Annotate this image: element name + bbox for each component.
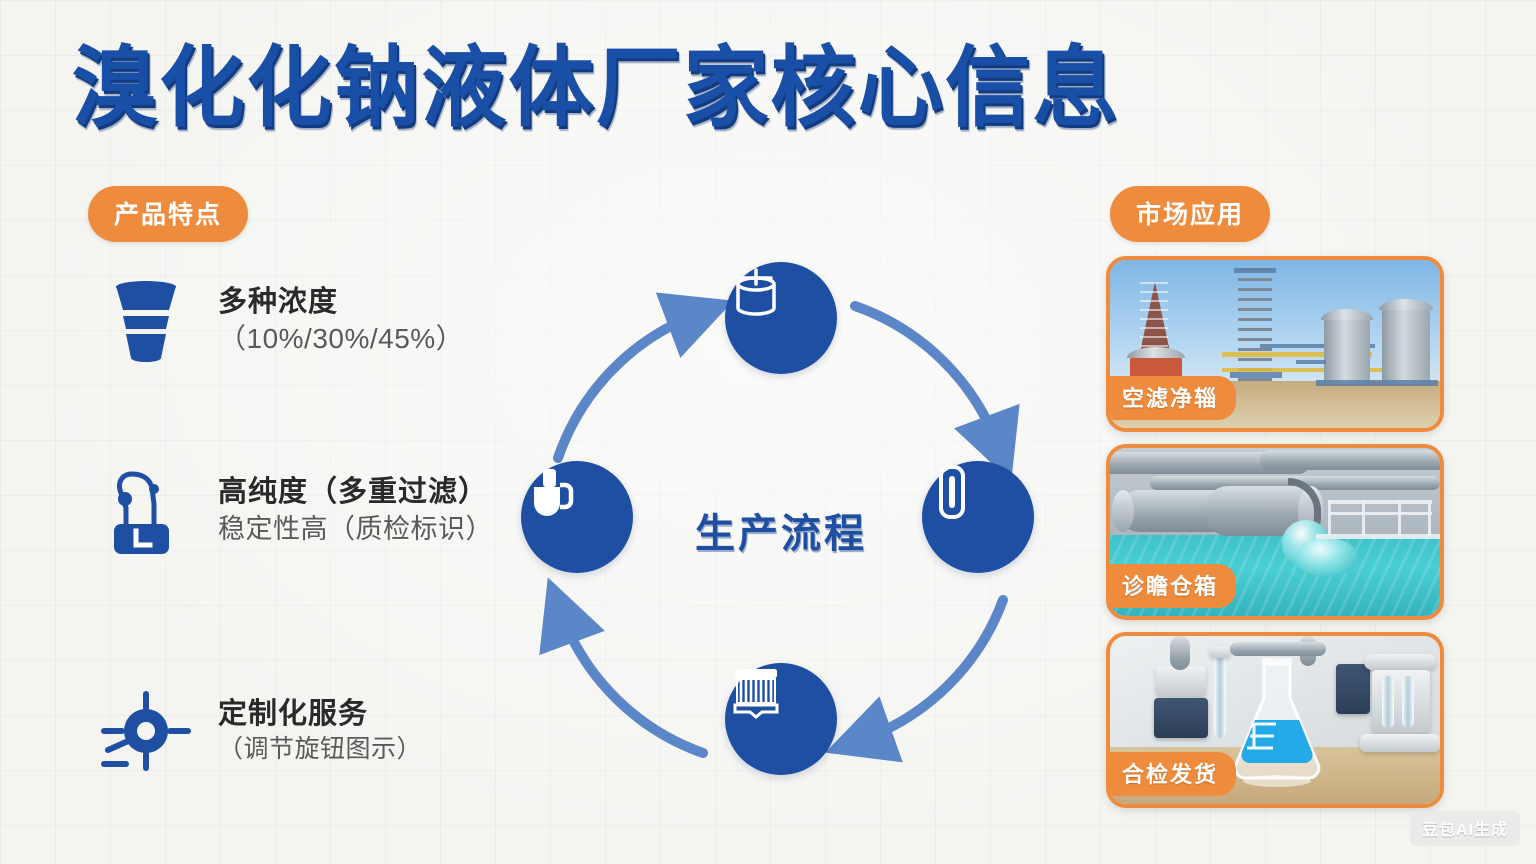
infographic-poster: 溴化化钠液体厂家核心信息 产品特点 多种浓度 （10%/30%/45%） [0, 0, 1536, 864]
feature-text-group: 定制化服务 （调节旋钮图示） [218, 696, 422, 767]
adjust-knob-icon [100, 682, 192, 780]
feature-subtitle: （调节旋钮图示） [218, 733, 422, 766]
section-badge-market-applications: 市场应用 [1110, 186, 1270, 242]
production-cycle-diagram: 生产流程 [498, 248, 1064, 814]
application-card-oil-field[interactable]: 空滤净辎 [1106, 256, 1444, 432]
feature-title: 定制化服务 [218, 696, 422, 734]
card-tag: 诊瞻仓箱 [1108, 564, 1236, 608]
page-title: 溴化化钠液体厂家核心信息 [72, 44, 1120, 132]
feature-text-group: 高纯度（多重过滤） 稳定性高（质检标识） [218, 474, 493, 547]
cycle-node-filter-cartridge[interactable] [725, 663, 837, 775]
cycle-center-label: 生产流程 [498, 501, 1064, 559]
cycle-node-mixing-tank[interactable] [725, 262, 837, 374]
feature-title: 多种浓度 [218, 284, 464, 322]
ai-watermark: 豆包AI生成 [1410, 811, 1520, 846]
feature-subtitle: （10%/30%/45%） [218, 321, 464, 358]
card-tag: 空滤净辎 [1108, 376, 1236, 420]
lab-purity-icon [100, 462, 192, 560]
application-card-laboratory[interactable]: 合检发货 [1106, 632, 1444, 808]
bucket-icon [100, 272, 192, 370]
application-card-water-treatment[interactable]: 诊瞻仓箱 [1106, 444, 1444, 620]
card-tag: 合检发货 [1108, 752, 1236, 796]
feature-text-group: 多种浓度 （10%/30%/45%） [218, 284, 464, 359]
feature-title: 高纯度（多重过滤） [218, 474, 493, 512]
section-badge-product-features: 产品特点 [88, 186, 248, 242]
feature-subtitle: 稳定性高（质检标识） [218, 512, 493, 548]
